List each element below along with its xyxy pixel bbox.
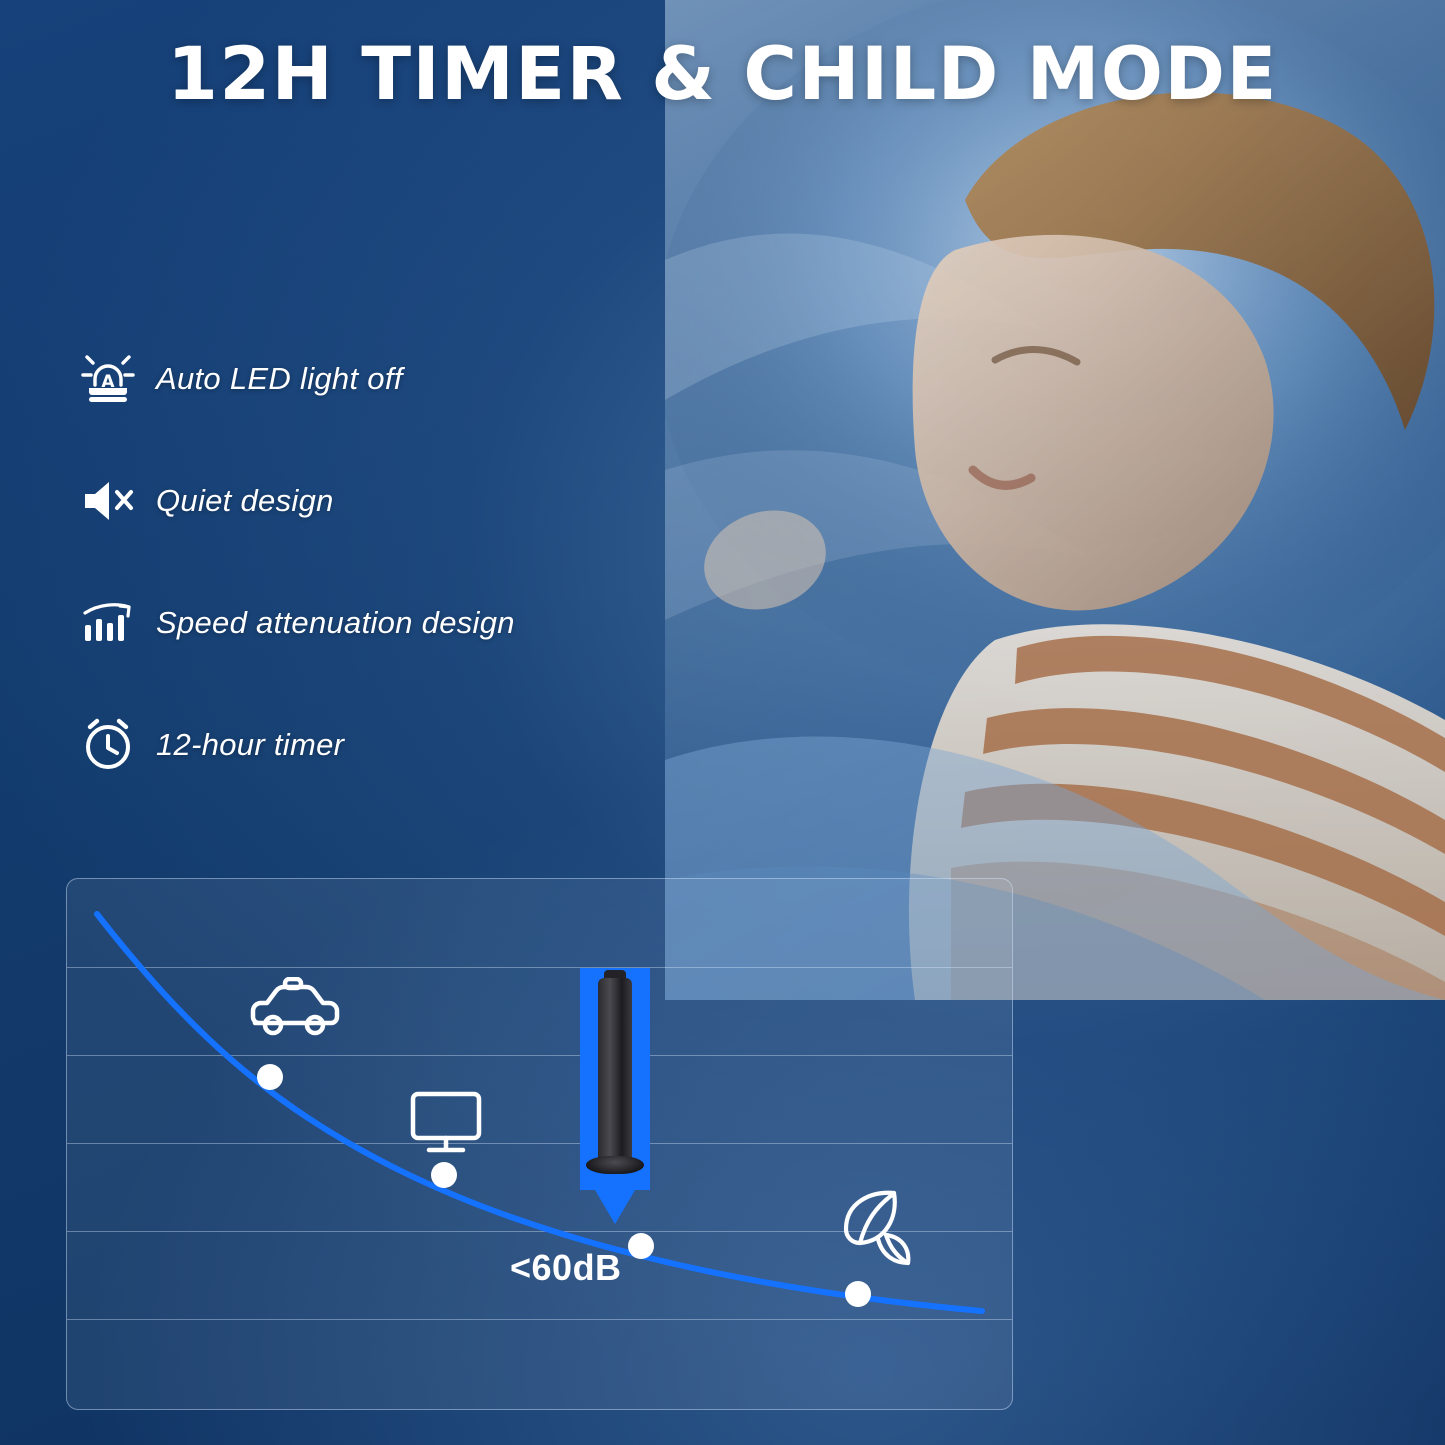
mute-speaker-icon (60, 475, 156, 527)
feature-label: Auto LED light off (156, 361, 403, 397)
feature-item-timer: 12-hour timer (60, 684, 700, 806)
page-title: 12H TIMER & CHILD MODE (0, 36, 1445, 115)
chart-points (67, 879, 1012, 1409)
feature-item-quiet: Quiet design (60, 440, 700, 562)
svg-text:A: A (101, 372, 115, 392)
noise-attenuation-chart (66, 878, 1013, 1410)
feature-item-speed-attenuation: Speed attenuation design (60, 562, 700, 684)
poster-stage: 12H TIMER & CHILD MODE A Auto LED light … (0, 0, 1445, 1445)
car-icon (245, 977, 341, 1049)
fan-pointer-arrow (595, 1190, 635, 1224)
feature-label: 12-hour timer (156, 727, 344, 763)
monitor-icon (409, 1090, 483, 1158)
sleeping-child-photo (665, 0, 1445, 1000)
feature-item-auto-led: A Auto LED light off (60, 318, 700, 440)
noise-level-label: <60dB (510, 1247, 622, 1289)
feature-list: A Auto LED light off Quiet design (60, 318, 700, 806)
fan-body (598, 978, 632, 1163)
feature-label: Quiet design (156, 483, 334, 519)
feature-label: Speed attenuation design (156, 605, 515, 641)
alarm-clock-icon (60, 716, 156, 774)
speed-attenuation-bars-icon (60, 597, 156, 649)
leaf-icon (832, 1185, 918, 1269)
auto-led-light-icon: A (60, 351, 156, 407)
tower-fan-product (580, 968, 650, 1190)
fan-base (586, 1156, 644, 1174)
